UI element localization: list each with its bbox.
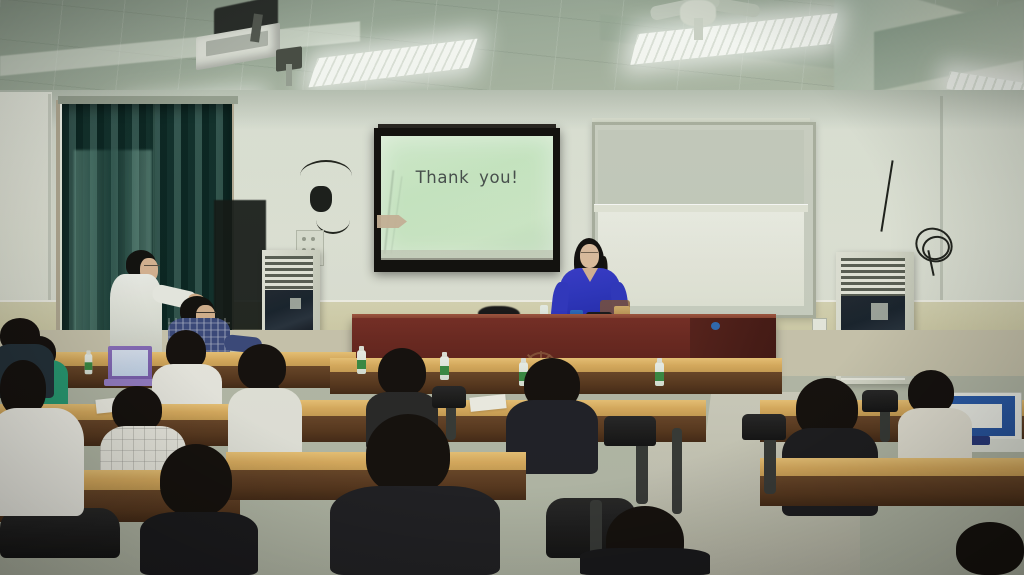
- seat-back: [742, 414, 786, 440]
- wall-seam: [48, 94, 51, 334]
- seat-back: [862, 390, 898, 412]
- curtain-rod: [58, 96, 238, 104]
- seat-frame: [672, 428, 682, 514]
- projector-pole: [286, 64, 292, 86]
- ac-poster: [265, 290, 313, 334]
- seat-back: [432, 386, 466, 408]
- seat-back: [604, 416, 656, 446]
- ac-louver-vent: [265, 256, 313, 290]
- slide-bottom-band: [381, 250, 553, 260]
- ceiling-fan-stem: [694, 18, 703, 40]
- lecture-hall-photo: Thank you!: [0, 0, 1024, 575]
- wall-dark-panel: [214, 200, 266, 330]
- wall-speaker-icon: [310, 186, 332, 212]
- slide-surface: [381, 136, 553, 258]
- whiteboard-upper-panel[interactable]: [598, 130, 804, 206]
- slide-text: Thank you!: [381, 168, 553, 187]
- whiteboard-lower-panel[interactable]: [598, 212, 804, 306]
- ac-louver-vent: [841, 258, 905, 296]
- water-bottle: [85, 354, 93, 374]
- glasses-icon: [581, 252, 598, 257]
- water-bottle: [655, 362, 664, 386]
- water-bottle: [440, 356, 449, 380]
- glasses-icon: [144, 265, 160, 270]
- small-blue-object: [711, 322, 720, 330]
- purple-laptop[interactable]: [104, 346, 154, 386]
- desk-row-3-right-front: [760, 476, 1024, 506]
- water-bottle: [357, 350, 366, 374]
- glasses-icon: [196, 312, 216, 317]
- whiteboard-rail: [594, 204, 808, 212]
